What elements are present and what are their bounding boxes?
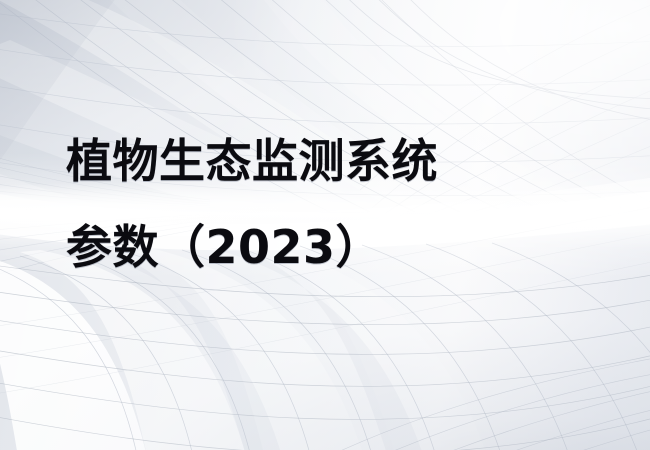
slide-title-line-2: 参数（2023）: [66, 204, 626, 290]
slide-title: 植物生态监测系统 参数（2023）: [66, 118, 626, 290]
slide-title-line-1: 植物生态监测系统: [66, 118, 626, 204]
title-slide: 植物生态监测系统 参数（2023）: [0, 0, 650, 450]
